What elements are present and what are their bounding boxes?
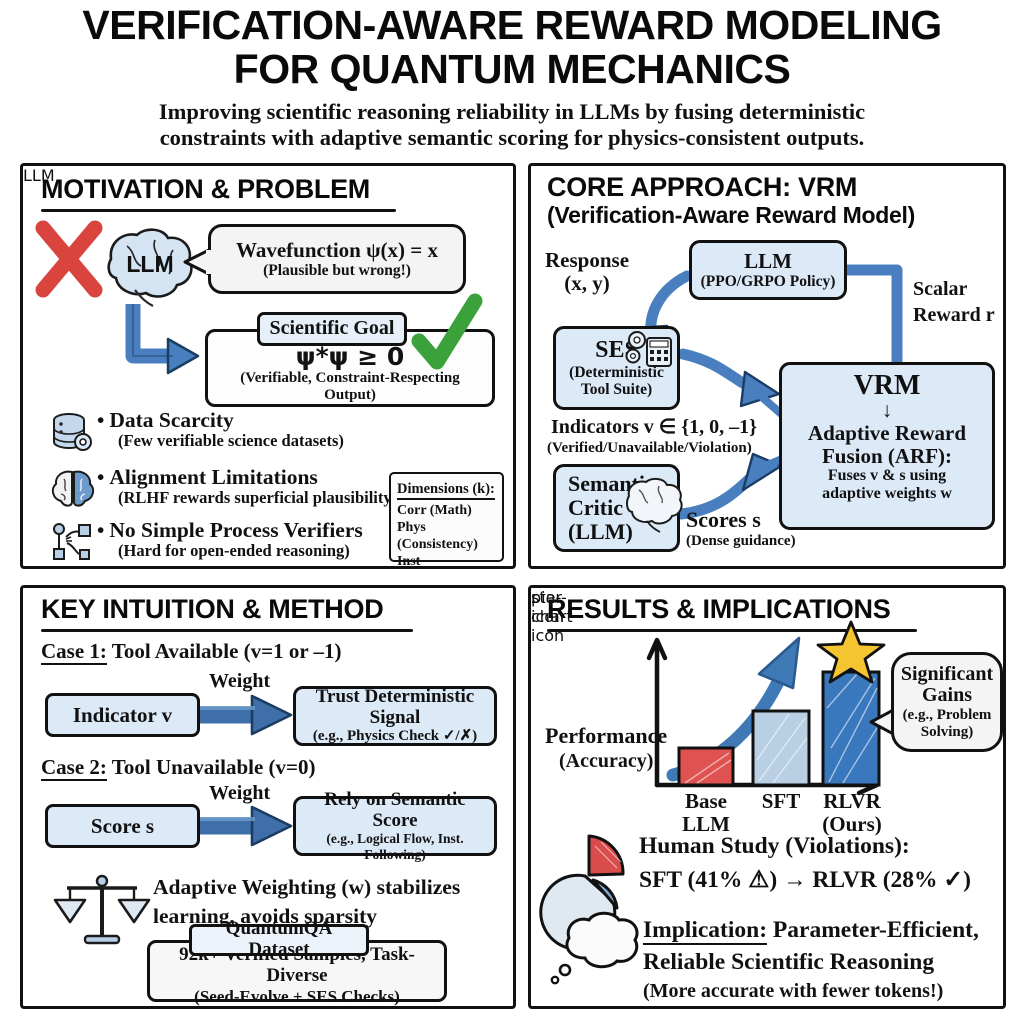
chart-y-axis-line2: (Accuracy) xyxy=(559,750,653,772)
ses-box-line2: (Deterministic xyxy=(569,364,664,381)
score-s-box: Score s xyxy=(45,804,200,848)
panel-key-intuition: KEY INTUITION & METHOD Case 1: Tool Avai… xyxy=(20,585,516,1009)
adaptive-weighting-line1: Adaptive Weighting (w) stabilizes xyxy=(153,876,460,900)
dimensions-items: Corr (Math) Phys (Consistency) Inst (Ins… xyxy=(397,502,496,569)
bullet-text: •No Simple Process Verifiers (Hard for o… xyxy=(97,519,363,560)
human-study-line2: SFT (41% ⚠) → RLVR (28% ✓) xyxy=(639,868,971,894)
scores-line2: (Dense guidance) xyxy=(686,533,796,550)
split-brain-icon xyxy=(51,468,97,514)
bullet-title: •Alignment Limitations xyxy=(97,466,397,489)
critic-line2: Critic xyxy=(568,496,623,520)
case2-target-line1: Rely on Semantic Score xyxy=(302,790,488,831)
case2-heading: Case 2: Tool Unavailable (v=0) xyxy=(41,756,316,779)
case2-label: Case 2: xyxy=(41,755,107,781)
dimension-item: Inst (Instruction) xyxy=(397,553,496,569)
ses-box-line3: Tool Suite) xyxy=(581,381,652,398)
scalar-reward-line2: Reward r xyxy=(913,304,995,326)
bullet-text: •Alignment Limitations (RLHF rewards sup… xyxy=(97,466,397,507)
dataset-tag: QuantumQA Dataset xyxy=(189,924,369,956)
case2-text: Tool Unavailable (v=0) xyxy=(107,755,316,779)
chart-xtick-0-line1: Base xyxy=(671,790,741,813)
vrm-down-arrow-icon: ↓ xyxy=(882,401,893,420)
implication-line2: Reliable Scientific Reasoning xyxy=(643,950,934,976)
implication-line3: (More accurate with fewer tokens!) xyxy=(643,980,943,1002)
title-line-1: VERIFICATION-AWARE REWARD MODELING xyxy=(30,4,994,48)
case1-label: Case 1: xyxy=(41,639,107,665)
bullet-title-text: Alignment Limitations xyxy=(109,465,317,489)
callout-line2: Gains xyxy=(922,685,972,707)
panel-motivation: MOTIVATION & PROBLEM LLM LLM Wavefunctio… xyxy=(20,163,516,569)
poster-root: VERIFICATION-AWARE REWARD MODELING FOR Q… xyxy=(0,0,1024,1024)
human-study-line1: Human Study (Violations): xyxy=(639,834,910,860)
vrm-box: VRM ↓ Adaptive Reward Fusion (ARF): Fuse… xyxy=(779,362,995,530)
dimensions-heading: Dimensions (k): xyxy=(397,481,495,500)
critic-line1: Semantic xyxy=(568,472,655,496)
bullet-sub: (Few verifiable science datasets) xyxy=(97,432,344,450)
semantic-critic-box: Semantic Critic (LLM) xyxy=(553,464,680,552)
critic-line3: (LLM) xyxy=(568,520,633,544)
rely-semantic-box: Rely on Semantic Score (e.g., Logical Fl… xyxy=(293,796,497,856)
case1-weight-label: Weight xyxy=(209,670,270,692)
bullet-title: •Data Scarcity xyxy=(97,409,344,432)
panel-method-heading: KEY INTUITION & METHOD xyxy=(41,594,383,625)
response-label-line1: Response xyxy=(545,249,629,272)
poster-title: VERIFICATION-AWARE REWARD MODELING FOR Q… xyxy=(0,4,1024,92)
subtitle-line-2: constraints with adaptive semantic scori… xyxy=(26,125,998,151)
goal-caption: (Verifiable, Constraint-Respecting Outpu… xyxy=(214,370,486,404)
vrm-line3: Fuses v & s using xyxy=(828,467,946,485)
database-gear-icon xyxy=(51,411,97,461)
chart-xtick-2: RLVR (Ours) xyxy=(816,790,888,836)
scores-line1: Scores s xyxy=(686,508,761,532)
response-label-line2: (x, y) xyxy=(545,272,629,295)
bullet-title-text: No Simple Process Verifiers xyxy=(109,518,362,542)
vrm-title: VRM xyxy=(854,371,921,401)
trust-deterministic-box: Trust Deterministic Signal (e.g., Physic… xyxy=(293,686,497,746)
callout-line4: Solving) xyxy=(921,724,974,741)
case1-target-line1: Trust Deterministic Signal xyxy=(302,687,488,728)
chart-xtick-1: SFT xyxy=(746,790,816,813)
scientific-goal-tag: Scientific Goal xyxy=(257,312,407,346)
case2-weight-label: Weight xyxy=(209,782,270,804)
chart-y-axis-line1: Performance xyxy=(545,724,667,748)
llm-box-line1: LLM xyxy=(744,250,792,273)
chart-xtick-0: Base LLM xyxy=(671,790,741,836)
case1-text: Tool Available (v=1 or –1) xyxy=(107,639,342,663)
panel-results: RESULTS & IMPLICATIONS star-icon xyxy=(528,585,1006,1009)
bullet-sub: (Hard for open-ended reasoning) xyxy=(97,542,363,560)
panel-motivation-heading-underline xyxy=(41,209,396,212)
implication-rest: Parameter-Efficient, xyxy=(767,917,979,943)
chart-xtick-2-line1: RLVR xyxy=(816,790,888,813)
llm-policy-box: LLM (PPO/GRPO Policy) xyxy=(689,240,847,300)
case2-source-label: Score s xyxy=(91,815,154,838)
bullet-sub: (RLHF rewards superficial plausibility) xyxy=(97,489,397,507)
poster-subtitle: Improving scientific reasoning reliabili… xyxy=(0,99,1024,151)
speech-line-1: Wavefunction ψ(x) = x xyxy=(236,239,438,262)
speech-line-2: (Plausible but wrong!) xyxy=(263,262,411,279)
case1-heading: Case 1: Tool Available (v=1 or –1) xyxy=(41,640,342,663)
indicators-line1: Indicators v ∈ {1, 0, –1} xyxy=(551,416,757,438)
dimension-item: Phys (Consistency) xyxy=(397,519,496,553)
bullet-row: •Data Scarcity (Few verifiable science d… xyxy=(51,409,481,461)
case1-source-label: Indicator v xyxy=(73,704,172,727)
dataset-tag-label: QuantumQA Dataset xyxy=(198,919,360,960)
vrm-line1: Adaptive Reward xyxy=(808,422,966,445)
ses-box-line1: SES xyxy=(595,338,638,364)
svg-text:LLM: LLM xyxy=(126,251,173,277)
indicators-line2: (Verified/Unavailable/Violation) xyxy=(547,440,752,457)
bullet-text: •Data Scarcity (Few verifiable science d… xyxy=(97,409,344,450)
panel-core-heading-line1: CORE APPROACH: VRM xyxy=(547,172,857,203)
indicator-v-box: Indicator v xyxy=(45,693,200,737)
scalar-reward-line1: Scalar xyxy=(913,278,967,300)
dimension-item: Corr (Math) xyxy=(397,502,496,519)
vrm-line4: adaptive weights w xyxy=(822,485,952,503)
panel-core-heading-line2: (Verification-Aware Reward Model) xyxy=(547,202,915,229)
subtitle-line-1: Improving scientific reasoning reliabili… xyxy=(26,99,998,125)
bullet-title: •No Simple Process Verifiers xyxy=(97,519,363,542)
vrm-line2: Fusion (ARF): xyxy=(822,445,952,468)
implication-label: Implication: xyxy=(643,917,767,945)
poster-header: VERIFICATION-AWARE REWARD MODELING FOR Q… xyxy=(0,4,1024,150)
ses-box: SES (Deterministic Tool Suite) xyxy=(553,326,680,410)
response-label: Response (x, y) xyxy=(545,249,629,295)
panel-core-approach: CORE APPROACH: VRM (Verification-Aware R… xyxy=(528,163,1006,569)
wrong-output-speech-bubble: Wavefunction ψ(x) = x (Plausible but wro… xyxy=(208,224,466,294)
callout-line1: Significant xyxy=(901,664,993,686)
title-line-2: FOR QUANTUM MECHANICS xyxy=(30,48,994,92)
process-graph-icon xyxy=(51,521,97,567)
goal-tag-label: Scientific Goal xyxy=(270,318,395,340)
dimensions-box: Dimensions (k): Corr (Math) Phys (Consis… xyxy=(389,472,504,562)
chart-xtick-1-line1: SFT xyxy=(746,790,816,813)
implication-line1: Implication: Parameter-Efficient, xyxy=(643,918,979,944)
panel-motivation-heading: MOTIVATION & PROBLEM xyxy=(41,174,370,205)
bullet-title-text: Data Scarcity xyxy=(109,408,233,432)
goal-formula: ψ*ψ ≥ 0 xyxy=(296,344,405,370)
panel-method-heading-underline xyxy=(41,629,413,632)
dataset-line2: (Seed-Evolve + SES Checks) xyxy=(194,987,400,1006)
case1-target-line2: (e.g., Physics Check ✓/✗) xyxy=(313,728,477,745)
case2-target-line2: (e.g., Logical Flow, Inst. Following) xyxy=(302,831,488,861)
significant-gains-callout: Significant Gains (e.g., Problem Solving… xyxy=(891,652,1003,752)
panel-results-heading-underline xyxy=(547,629,917,632)
panel-results-heading: RESULTS & IMPLICATIONS xyxy=(547,594,890,625)
callout-line3: (e.g., Problem xyxy=(903,707,992,724)
llm-box-line2: (PPO/GRPO Policy) xyxy=(701,273,836,290)
